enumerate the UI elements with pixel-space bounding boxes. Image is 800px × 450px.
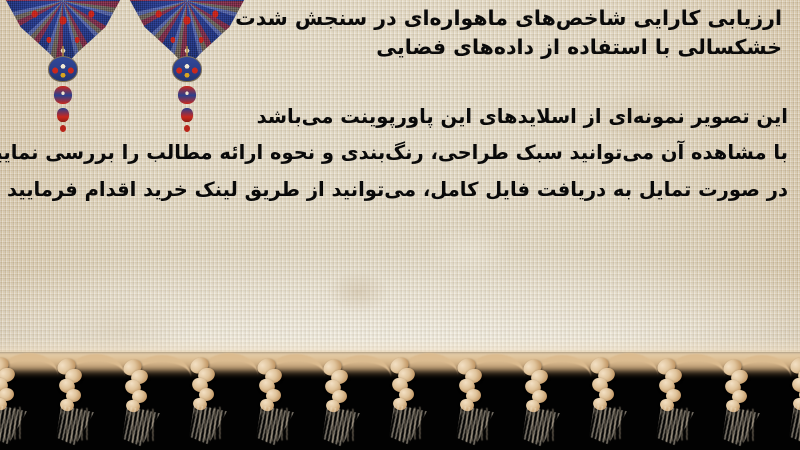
carpet-fringe-zone <box>0 352 800 450</box>
tassel-fiber-brush <box>194 407 223 442</box>
slide-title-line-1: ارزیابی کارایی شاخص‌های ماهواره‌ای در سن… <box>122 4 782 33</box>
tassel-fiber-brush <box>727 409 756 444</box>
fringe-tassel <box>519 358 575 446</box>
tassel-fiber-brush <box>594 407 623 442</box>
fringe-tassel <box>0 356 42 444</box>
fringe-tassel <box>453 357 509 445</box>
tassel-fiber-brush <box>0 407 24 442</box>
fringe-tassel <box>119 358 175 446</box>
slide-body-text: این تصویر نمونه‌ای از اسلایدهای این پاور… <box>10 104 788 202</box>
fringe-tassel <box>253 357 309 445</box>
tassel-fiber-brush <box>61 408 90 443</box>
fringe-tassel <box>53 357 109 445</box>
fringe-tassel <box>386 356 442 444</box>
slide-canvas: ارزیابی کارایی شاخص‌های ماهواره‌ای در سن… <box>0 0 800 450</box>
fringe-tassel <box>186 356 242 444</box>
tassel-fiber-brush <box>394 407 423 442</box>
slide-body-line-3: در صورت تمایل به دریافت فایل کامل، می‌تو… <box>10 177 788 202</box>
tassel-fiber-brush <box>461 408 490 443</box>
tassel-fiber-brush <box>261 408 290 443</box>
tassel-fiber-brush <box>661 408 690 443</box>
slide-body-line-1: این تصویر نمونه‌ای از اسلایدهای این پاور… <box>10 104 788 129</box>
tassel-fiber-brush <box>527 409 556 444</box>
slide-title-line-2: خشکسالی با استفاده از داده‌های فضایی <box>122 33 782 62</box>
fringe-tassel <box>586 356 642 444</box>
slide-body-line-2: با مشاهده آن می‌توانید سبک طراحی، رنگ‌بن… <box>10 140 788 165</box>
slide-title: ارزیابی کارایی شاخص‌های ماهواره‌ای در سن… <box>122 4 782 62</box>
fringe-tassel <box>319 358 375 446</box>
fringe-tassel <box>786 356 800 444</box>
tassel-fiber-brush <box>327 409 356 444</box>
tassel-fiber-brush <box>127 409 156 444</box>
fringe-tassel <box>653 357 709 445</box>
slide-text-layer: ارزیابی کارایی شاخص‌های ماهواره‌ای در سن… <box>0 0 800 372</box>
fringe-tassel <box>719 358 775 446</box>
